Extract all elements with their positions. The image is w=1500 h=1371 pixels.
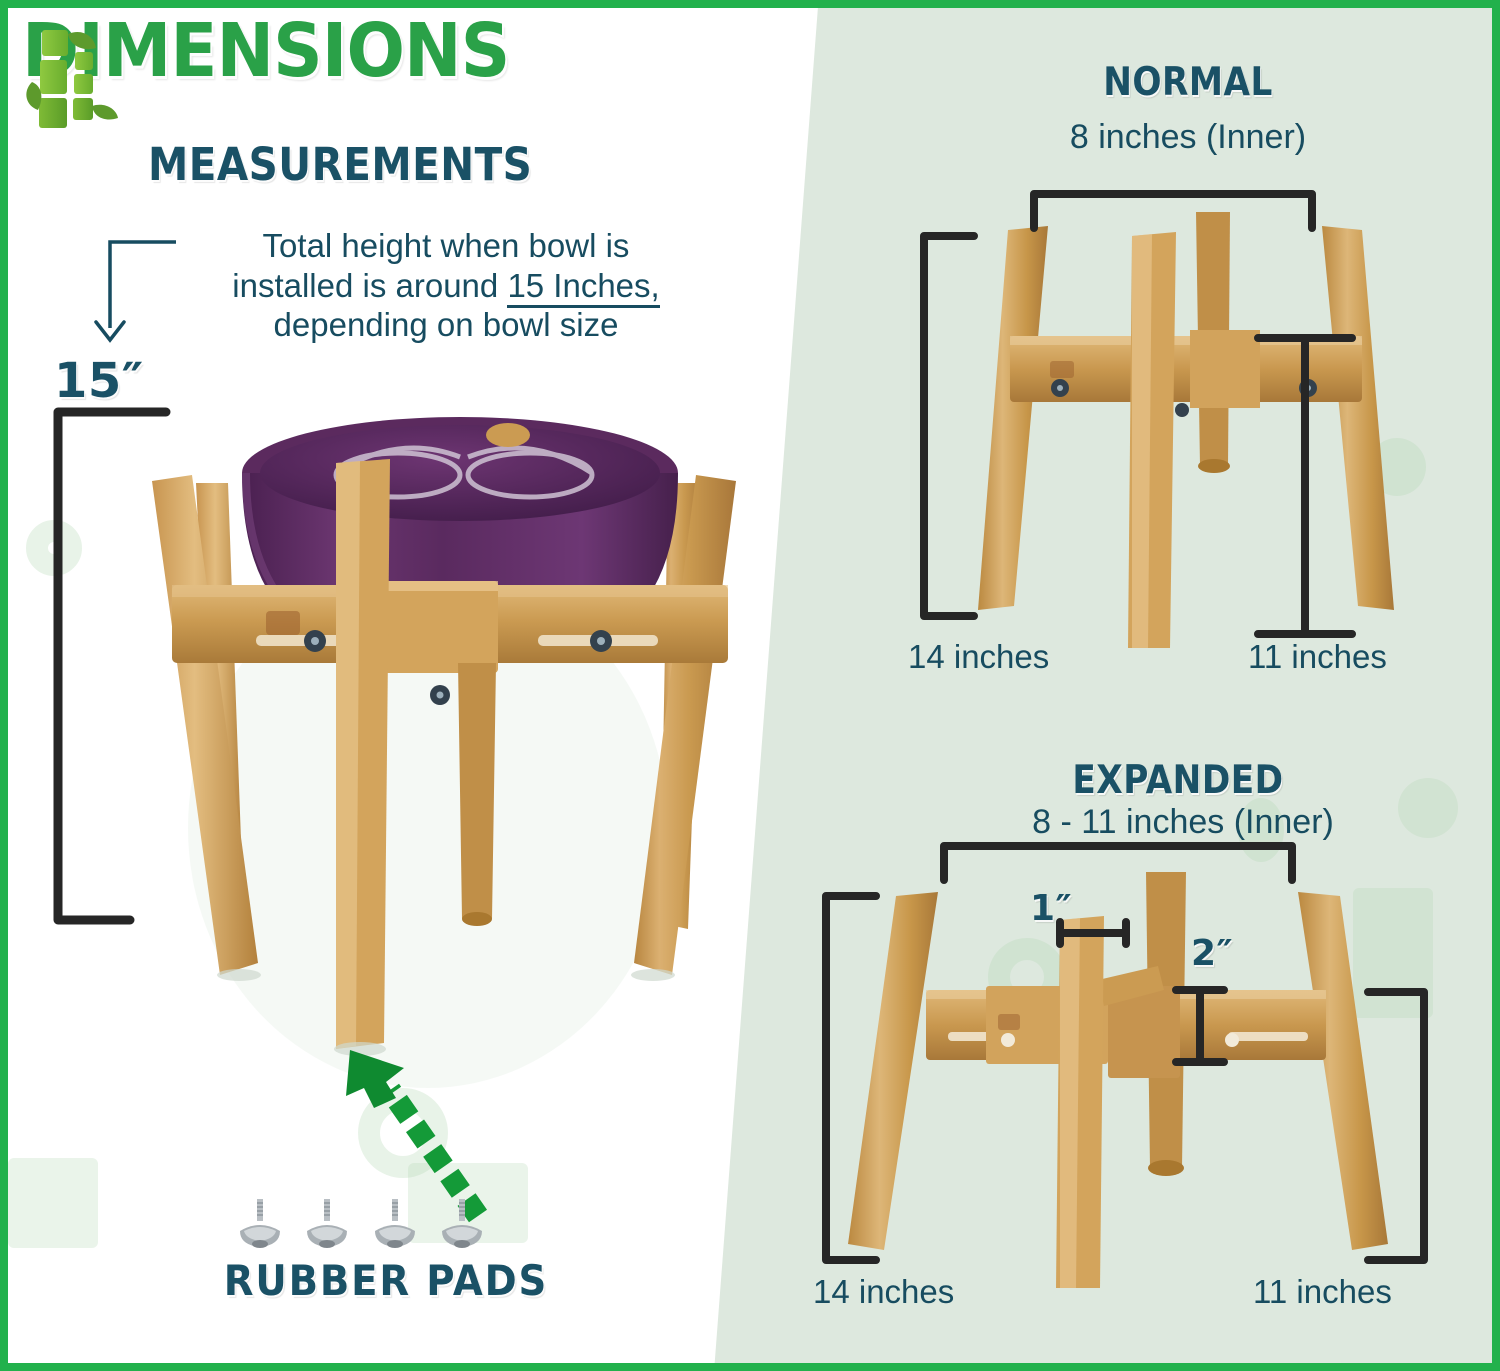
callout-line-3: depending on bowl size <box>176 305 716 345</box>
callout-line-2-emphasis: 15 Inches, <box>507 267 659 308</box>
expanded-height-label: 11 inches <box>1253 1273 1392 1311</box>
rubber-pad-icon <box>303 1197 351 1253</box>
infographic-canvas: DIMENSIONS MEASUREMENTS Total height whe… <box>0 0 1500 1371</box>
normal-inner-label: 8 inches (Inner) <box>868 118 1500 157</box>
rubber-pads-label: RUBBER PADS <box>202 1256 570 1305</box>
expanded-section-title: EXPANDED <box>914 758 1442 803</box>
callout-line-2-pre: installed is around <box>232 267 507 304</box>
callout-leader-arrow <box>80 236 180 348</box>
callout-line-2: installed is around 15 Inches, <box>176 266 716 306</box>
page-subtitle: MEASUREMENTS <box>148 138 532 191</box>
rail-height-label: 2″ <box>1191 933 1233 974</box>
callout-line-1: Total height when bowl is <box>176 226 716 266</box>
expanded-width-label: 14 inches <box>813 1273 954 1311</box>
bamboo-icon <box>20 22 130 142</box>
expanded-outer-dimensions <box>808 868 1448 1288</box>
rubber-pad-icon <box>236 1197 284 1253</box>
expanded-inner-label: 8 - 11 inches (Inner) <box>838 803 1500 842</box>
height-dimension-bracket <box>48 406 178 926</box>
slot-width-label: 1″ <box>1030 888 1072 929</box>
normal-section-title: NORMAL <box>924 60 1452 105</box>
normal-outer-dimensions <box>908 198 1428 648</box>
callout-text: Total height when bowl is installed is a… <box>176 226 716 345</box>
rubber-pad-icon <box>438 1197 486 1253</box>
normal-height-label: 11 inches <box>1248 638 1387 676</box>
rubber-pad-icon <box>371 1197 419 1253</box>
normal-width-label: 14 inches <box>908 638 1049 676</box>
rubber-pads-group <box>236 1193 486 1253</box>
total-height-label: 15″ <box>54 353 144 409</box>
